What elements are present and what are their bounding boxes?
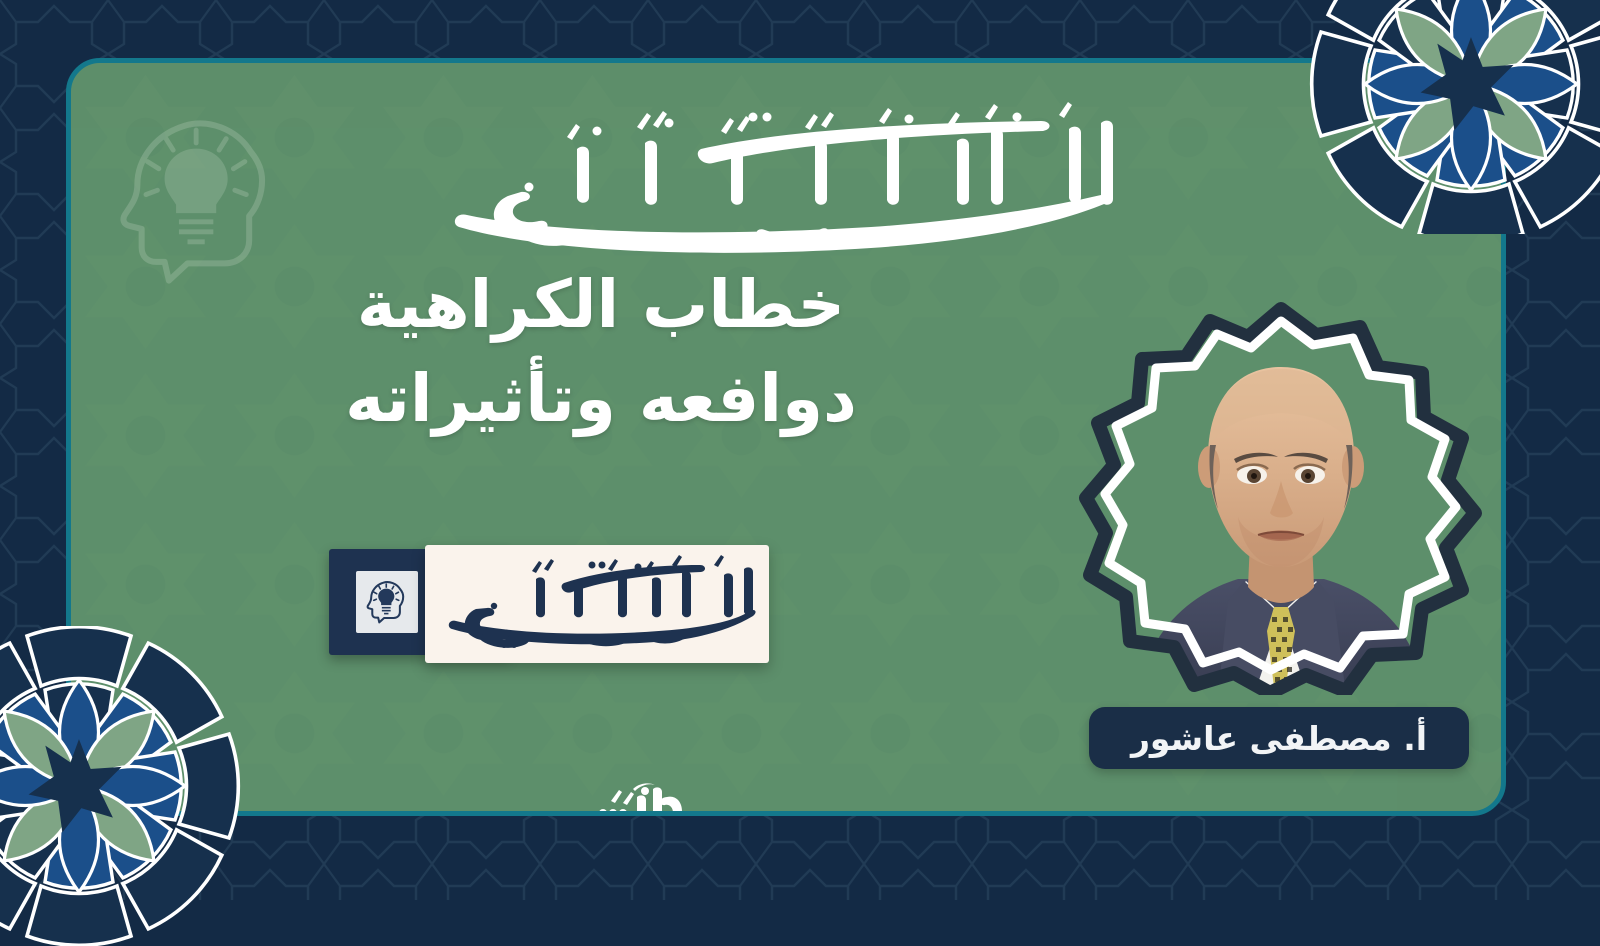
speaker-portrait <box>1078 295 1484 695</box>
portrait-frame <box>1078 295 1484 695</box>
portal-calligraphy-heading: بوابة الاستشارات الإلكترونية <box>401 87 1161 267</box>
plaque-calligraphy-card: استشارات فكرية <box>425 545 769 663</box>
thought-consultations-plaque: استشارات فكرية <box>329 545 769 665</box>
thought-consultations-calligraphy: استشارات فكرية <box>432 549 762 659</box>
instagram-link[interactable] <box>719 813 755 816</box>
x-twitter-link[interactable] <box>803 813 839 816</box>
website-url[interactable]: www.istsharat.net <box>869 814 1175 816</box>
title-line-1: خطاب الكراهية <box>271 258 931 352</box>
speaker-name-badge: أ. مصطفى عاشور <box>1089 707 1469 769</box>
title-line-2: دوافعه وتأثيراته <box>271 352 931 446</box>
lecture-title-block: خطاب الكراهية دوافعه وتأثيراته <box>271 258 931 445</box>
social-links[interactable] <box>719 813 839 816</box>
plaque-icon-tile <box>356 571 418 633</box>
head-lightbulb-icon <box>113 111 285 291</box>
main-card: بوابة الاستشارات الإلكترونية <box>66 58 1506 816</box>
society-logo-calligraphy: المجتمع <box>549 779 697 816</box>
head-lightbulb-icon <box>364 579 410 625</box>
footer-bar: المجتمع <box>549 779 1175 816</box>
facebook-link[interactable] <box>761 813 797 816</box>
speaker-name: أ. مصطفى عاشور <box>1131 719 1427 758</box>
